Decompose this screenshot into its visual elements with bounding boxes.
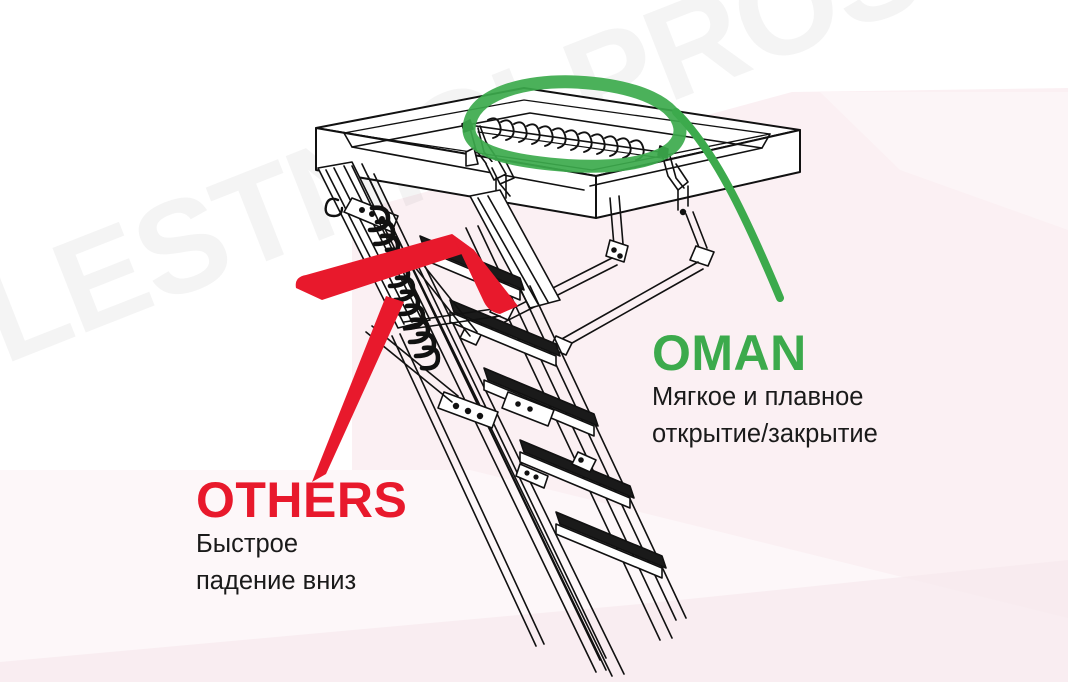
infographic-canvas: LESTNICI-PROSTO.RU xyxy=(0,0,1068,682)
oman-annotation-block: OMAN Мягкое и плавное открытие/закрытие xyxy=(652,328,878,453)
others-heading: OTHERS xyxy=(196,475,407,526)
red-arrow-annotation xyxy=(0,0,1068,682)
oman-description-line2: открытие/закрытие xyxy=(652,416,878,453)
oman-description-line1: Мягкое и плавное xyxy=(652,379,878,416)
others-annotation-block: OTHERS Быстрое падение вниз xyxy=(196,475,407,600)
others-description-line1: Быстрое xyxy=(196,526,407,563)
oman-heading: OMAN xyxy=(652,328,878,379)
others-description-line2: падение вниз xyxy=(196,563,407,600)
